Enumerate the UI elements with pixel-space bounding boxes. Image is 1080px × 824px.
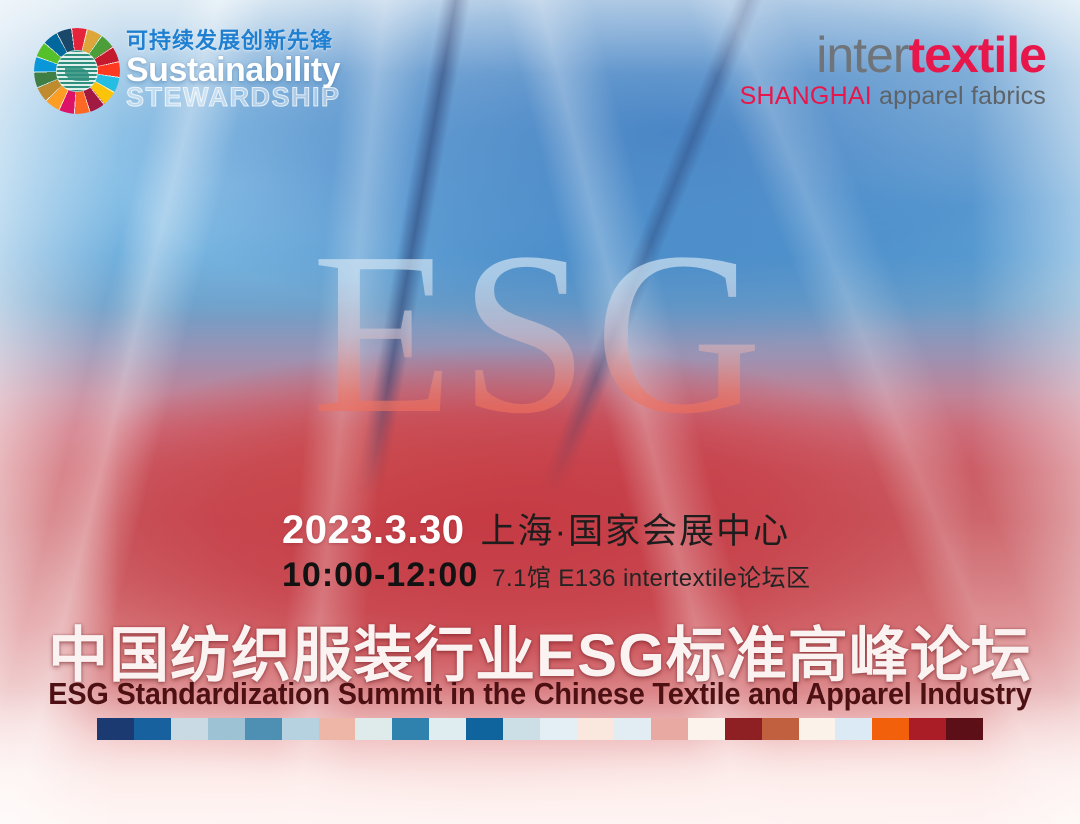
color-swatch-bar — [97, 718, 983, 740]
color-swatch — [909, 718, 946, 740]
sustainability-stewardship-logo: 可持续发展创新先锋 Sustainability STEWARDSHIP — [34, 28, 341, 114]
color-swatch — [688, 718, 725, 740]
event-venue: 上海·国家会展中心 — [480, 503, 790, 554]
color-swatch — [725, 718, 762, 740]
sdg-color-wheel-icon — [34, 28, 120, 114]
stewardship-wordmark: STEWARDSHIP — [126, 84, 341, 111]
intertextile-subline: SHANGHAI apparel fabrics — [740, 84, 1046, 109]
esg-summit-poster: ESG 可持续发展创新先锋 Sustainability STEWARDSHIP… — [0, 0, 1080, 824]
color-swatch — [503, 718, 540, 740]
event-details-block: 2023.3.30 上海·国家会展中心 10:00-12:00 7.1馆 E13… — [282, 503, 810, 595]
color-swatch — [946, 718, 983, 740]
color-swatch — [651, 718, 688, 740]
intertextile-logo: intertextile SHANGHAI apparel fabrics — [740, 30, 1046, 109]
color-swatch — [466, 718, 503, 740]
color-swatch — [171, 718, 208, 740]
event-hall: 7.1馆 E136 intertextile论坛区 — [492, 558, 810, 593]
event-time-row: 10:00-12:00 7.1馆 E136 intertextile论坛区 — [282, 556, 810, 595]
color-swatch — [245, 718, 282, 740]
forum-title-english: ESG Standardization Summit in the Chines… — [38, 676, 1042, 712]
color-swatch — [872, 718, 909, 740]
color-swatch — [799, 718, 836, 740]
color-swatch — [429, 718, 466, 740]
color-swatch — [208, 718, 245, 740]
intertextile-inter-text: inter — [816, 27, 908, 83]
event-time: 10:00-12:00 — [282, 556, 478, 595]
sustainability-logo-text: 可持续发展创新先锋 Sustainability STEWARDSHIP — [126, 30, 341, 113]
sustainability-tagline-cn: 可持续发展创新先锋 — [126, 30, 341, 52]
intertextile-apparel-text: apparel fabrics — [879, 82, 1046, 110]
event-date-row: 2023.3.30 上海·国家会展中心 — [282, 503, 810, 554]
event-date: 2023.3.30 — [282, 508, 464, 553]
color-swatch — [540, 718, 577, 740]
intertextile-shanghai-text: SHANGHAI — [740, 82, 872, 110]
color-swatch — [282, 718, 319, 740]
color-swatch — [392, 718, 429, 740]
color-swatch — [577, 718, 614, 740]
color-swatch — [762, 718, 799, 740]
color-swatch — [134, 718, 171, 740]
intertextile-textile-text: textile — [908, 27, 1046, 83]
sdg-wheel-hub — [56, 50, 97, 91]
intertextile-wordmark: intertextile — [740, 30, 1046, 80]
color-swatch — [835, 718, 872, 740]
color-swatch — [97, 718, 134, 740]
color-swatch — [319, 718, 356, 740]
color-swatch — [355, 718, 392, 740]
color-swatch — [614, 718, 651, 740]
